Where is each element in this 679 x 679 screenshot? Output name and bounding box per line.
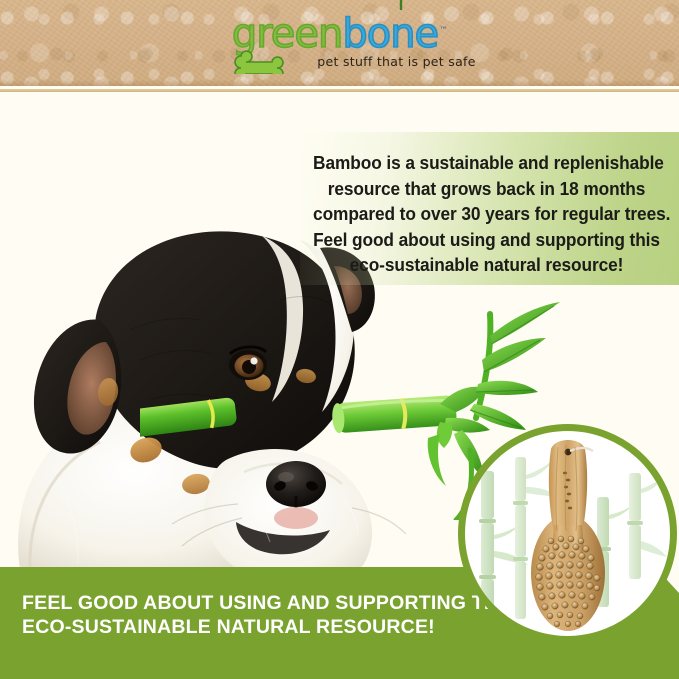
product-circle-inset	[458, 424, 677, 643]
trademark-symbol: ™	[439, 26, 448, 36]
bamboo-pet-brush	[513, 433, 623, 638]
message-line-3: compared to over 30 years for regular tr…	[313, 201, 660, 227]
message-panel: Bamboo is a sustainable and replenishabl…	[300, 132, 679, 285]
message-line-5: eco-sustainable natural resource!	[313, 252, 660, 278]
logo-tagline-row: pet stuff that is pet safe	[229, 50, 450, 74]
logo-text-green: green	[232, 14, 343, 54]
bone-icon	[229, 50, 291, 74]
logo-text-blue: bone	[342, 14, 438, 54]
leaf-sprout-icon	[380, 0, 414, 10]
banner-headline: FEEL GOOD ABOUT USING AND SUPPORTING THI…	[22, 591, 492, 639]
banner-line-2: ECO-SUSTAINABLE NATURAL RESOURCE!	[22, 615, 492, 639]
product-infographic: green bone ™ pet stuff that is pet safe	[0, 0, 679, 679]
message-line-1: Bamboo is a sustainable and replenishabl…	[313, 150, 660, 176]
brand-logo: green bone ™ pet stuff that is pet safe	[0, 0, 679, 86]
message-line-2: resource that grows back in 18 months	[313, 176, 660, 202]
logo-tagline: pet stuff that is pet safe	[317, 54, 476, 69]
message-text: Bamboo is a sustainable and replenishabl…	[313, 150, 660, 278]
banner-line-1: FEEL GOOD ABOUT USING AND SUPPORTING THI…	[22, 591, 492, 615]
logo-wordmark: green bone ™	[232, 0, 447, 50]
message-line-4: Feel good about using and supporting thi…	[313, 227, 660, 253]
